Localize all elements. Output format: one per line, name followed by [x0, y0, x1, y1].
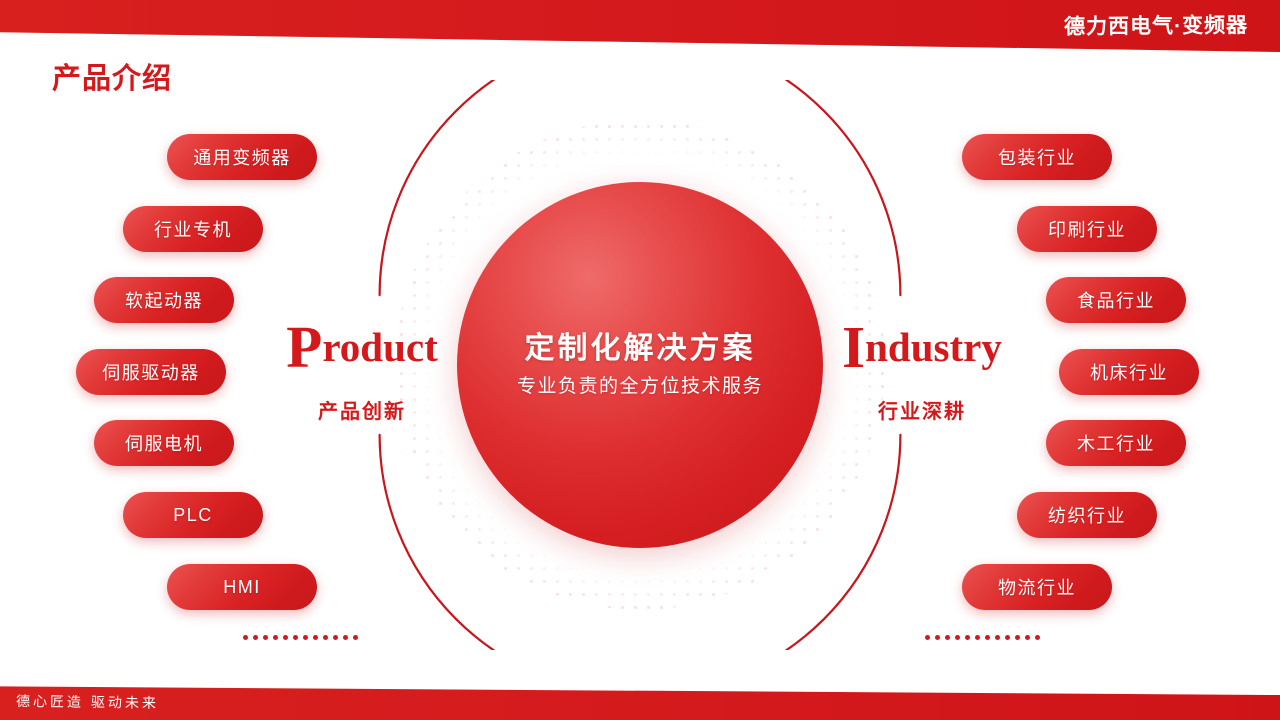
decor-dot: [333, 635, 338, 640]
left-section-en: Product: [252, 318, 472, 377]
decor-dot: [1015, 635, 1020, 640]
page-title: 产品介绍: [52, 55, 172, 97]
slide-root: 德力西电气·变频器 产品介绍 定制化解决方案 专业负责的全方位技术服务 Prod…: [0, 0, 1280, 720]
decor-dot: [273, 635, 278, 640]
right-section-en-capital: I: [842, 314, 865, 380]
decor-dot: [925, 635, 930, 640]
product-pill-1[interactable]: 行业专机: [123, 206, 263, 252]
right-section-en: Industry: [812, 318, 1032, 377]
industry-pill-5[interactable]: 纺织行业: [1017, 492, 1157, 538]
decor-dot: [293, 635, 298, 640]
product-pill-2[interactable]: 软起动器: [94, 277, 234, 323]
product-pill-6[interactable]: HMI: [167, 564, 317, 610]
decor-dot: [975, 635, 980, 640]
footer-slogan: 德心匠造 驱动未来: [16, 691, 159, 713]
left-section-en-capital: P: [286, 314, 322, 380]
decor-dot: [353, 635, 358, 640]
decor-dot: [1025, 635, 1030, 640]
brand-logo-text: 德力西电气·变频器: [1064, 9, 1248, 41]
decor-dot: [243, 635, 248, 640]
decor-dot: [313, 635, 318, 640]
right-section-heading: Industry 行业深耕: [812, 318, 1032, 424]
decor-dot: [935, 635, 940, 640]
industry-pill-4[interactable]: 木工行业: [1046, 420, 1186, 466]
industry-pill-2[interactable]: 食品行业: [1046, 277, 1186, 323]
left-section-heading: Product 产品创新: [252, 318, 472, 424]
decor-dot: [253, 635, 258, 640]
product-pill-3[interactable]: 伺服驱动器: [76, 349, 226, 395]
right-section-cn: 行业深耕: [812, 395, 1032, 424]
industry-pill-1[interactable]: 印刷行业: [1017, 206, 1157, 252]
product-pill-0[interactable]: 通用变频器: [167, 134, 317, 180]
product-pill-5[interactable]: PLC: [123, 492, 263, 538]
decor-dot: [955, 635, 960, 640]
center-core-circle: 定制化解决方案 专业负责的全方位技术服务: [457, 182, 823, 548]
decor-dot: [263, 635, 268, 640]
decor-dot: [1005, 635, 1010, 640]
decor-dot: [1035, 635, 1040, 640]
decor-dot: [965, 635, 970, 640]
decor-dot: [945, 635, 950, 640]
product-pill-4[interactable]: 伺服电机: [94, 420, 234, 466]
left-section-en-rest: roduct: [322, 324, 437, 370]
decor-dot: [283, 635, 288, 640]
left-section-cn: 产品创新: [252, 395, 472, 424]
industry-pill-0[interactable]: 包装行业: [962, 134, 1112, 180]
right-section-en-rest: ndustry: [865, 324, 1002, 370]
core-title: 定制化解决方案: [525, 331, 756, 367]
industry-pill-6[interactable]: 物流行业: [962, 564, 1112, 610]
industry-pill-3[interactable]: 机床行业: [1059, 349, 1199, 395]
decor-dot: [995, 635, 1000, 640]
decor-dots-right: [925, 635, 1040, 640]
decor-dot: [303, 635, 308, 640]
core-subtitle: 专业负责的全方位技术服务: [517, 376, 763, 399]
decor-dot: [343, 635, 348, 640]
decor-dot: [323, 635, 328, 640]
decor-dot: [985, 635, 990, 640]
decor-dots-left: [243, 635, 358, 640]
